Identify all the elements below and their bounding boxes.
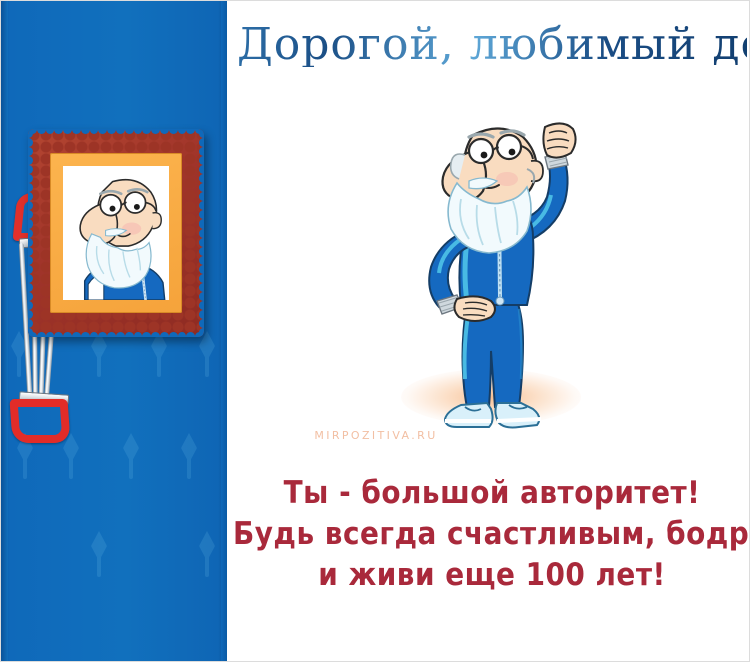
message-line-1: Ты - большой авторитет! bbox=[233, 473, 750, 514]
left-blue-panel bbox=[1, 1, 227, 662]
card-message: Ты - большой авторитет! Будь всегда счас… bbox=[233, 473, 750, 597]
wallpaper-motif-icon bbox=[197, 531, 217, 577]
wallpaper-motif-icon bbox=[197, 331, 217, 377]
message-line-3: и живи еще 100 лет! bbox=[233, 555, 750, 596]
message-line-2: Будь всегда счастливым, бодрым bbox=[233, 514, 750, 555]
portrait-photo bbox=[63, 166, 169, 300]
frame-scallop-right bbox=[199, 129, 204, 337]
wallpaper-motif-icon bbox=[89, 531, 109, 577]
portrait-frame bbox=[28, 129, 204, 337]
frame-scallop-top bbox=[28, 129, 204, 134]
panel-right-edge bbox=[221, 1, 227, 662]
grandpa-illustration bbox=[381, 111, 591, 431]
watermark: MIRPOZITIVA.RU bbox=[1, 429, 750, 442]
greeting-card: Дорогой, любимый дед! bbox=[0, 0, 750, 662]
card-title: Дорогой, любимый дед! bbox=[237, 23, 747, 67]
grandpa-flexing-icon bbox=[381, 111, 591, 431]
frame-scallop-bottom bbox=[28, 332, 204, 337]
grandpa-portrait-icon bbox=[63, 166, 169, 300]
frame-mat bbox=[50, 153, 182, 313]
frame-scallop-left bbox=[28, 129, 33, 337]
wallpaper-motif-icon bbox=[149, 331, 169, 377]
wallpaper-motif-icon bbox=[89, 331, 109, 377]
